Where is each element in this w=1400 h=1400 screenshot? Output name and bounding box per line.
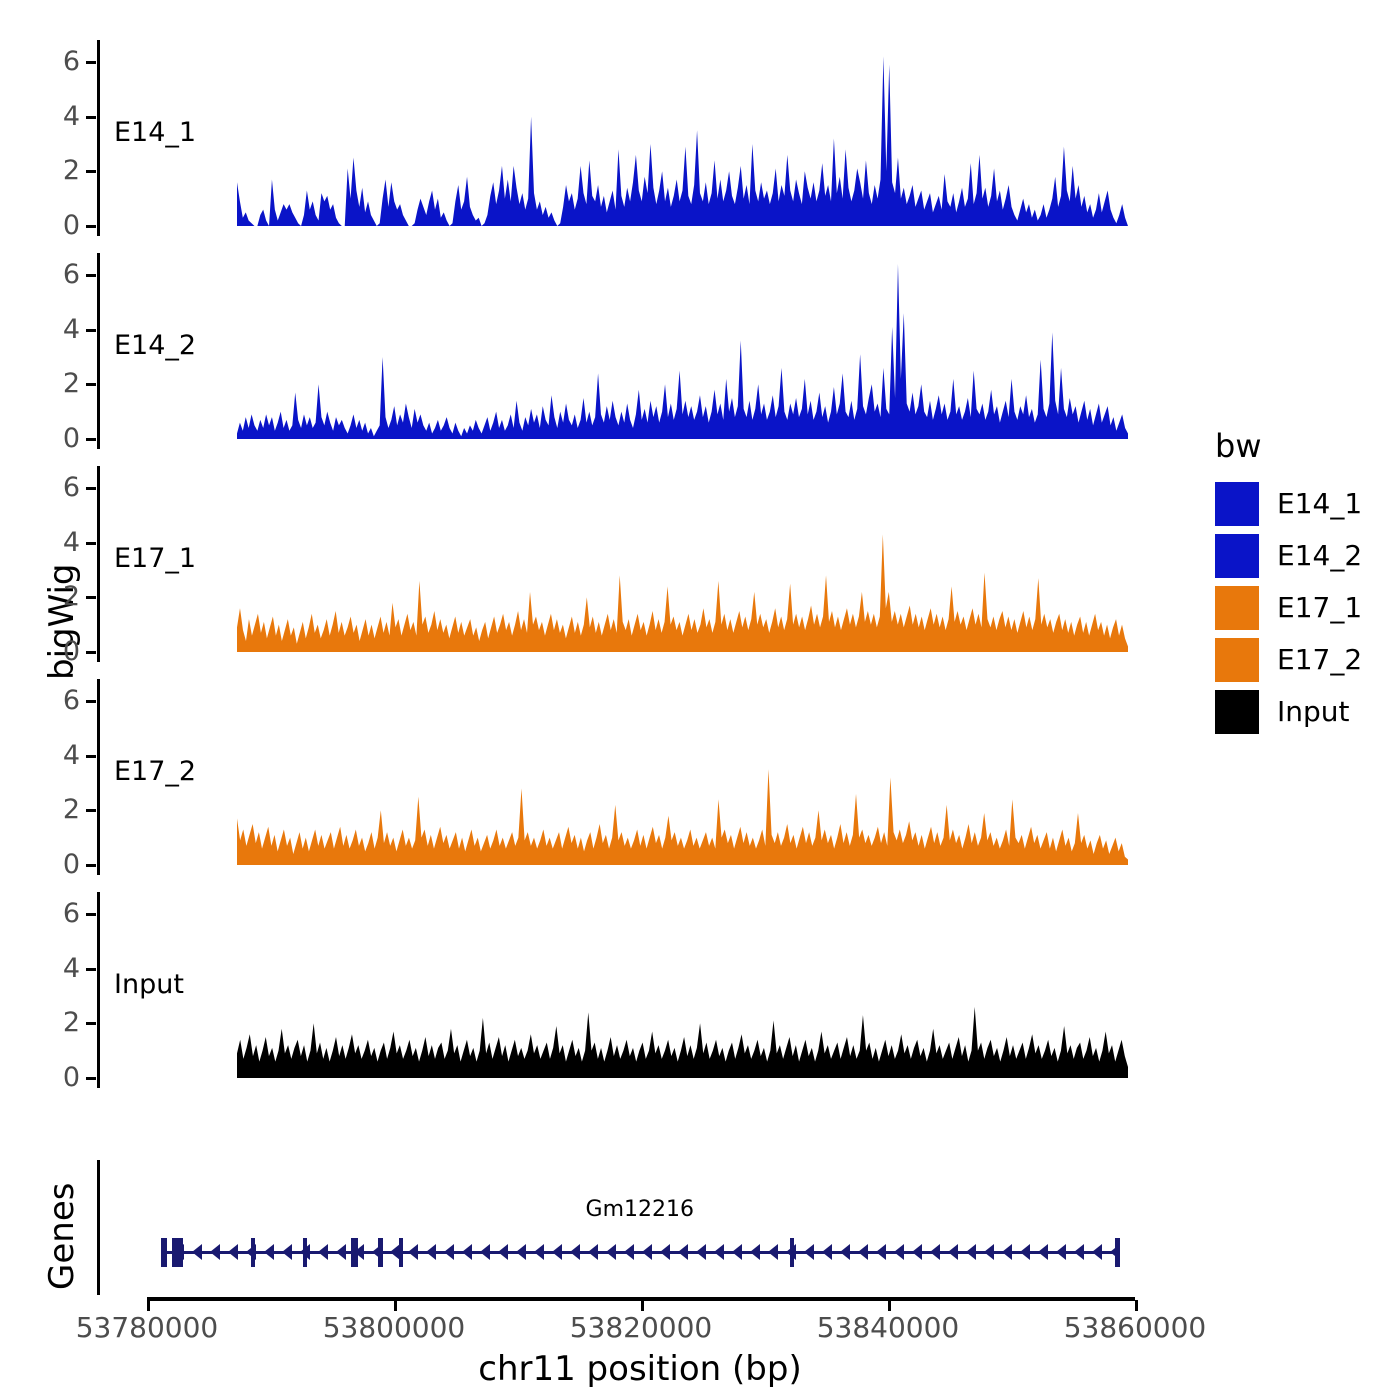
- legend-label: E17_1: [1277, 593, 1362, 623]
- gene-strand-arrow-icon: [462, 1244, 472, 1260]
- gene-strand-arrow-icon: [1002, 1244, 1012, 1260]
- gene-strand-arrow-icon: [426, 1244, 436, 1260]
- y-tick-label: 2: [22, 370, 80, 397]
- signal-track-e14_1: [237, 40, 1128, 228]
- y-tick-label: 6: [22, 48, 80, 75]
- gene-strand-arrow-icon: [228, 1244, 238, 1260]
- gene-strand-arrow-icon: [516, 1244, 526, 1260]
- y-tick: [86, 809, 96, 812]
- gene-strand-arrow-icon: [678, 1244, 688, 1260]
- track-panel-input: 0246Input: [0, 892, 1200, 1100]
- gene-strand-arrow-icon: [750, 1244, 760, 1260]
- gene-strand-arrow-icon: [1092, 1244, 1102, 1260]
- x-tick-label: 53820000: [531, 1314, 751, 1342]
- gene-strand-arrow-icon: [336, 1244, 346, 1260]
- legend-swatch: [1215, 534, 1259, 578]
- y-tick-label: 2: [22, 796, 80, 823]
- legend-label: E14_1: [1277, 489, 1362, 519]
- gene-exon: [790, 1238, 794, 1267]
- gene-strand-arrow-icon: [912, 1244, 922, 1260]
- gene-strand-arrow-icon: [264, 1244, 274, 1260]
- y-tick-label: 6: [22, 900, 80, 927]
- legend-swatch: [1215, 586, 1259, 630]
- y-tick-label: 0: [22, 212, 80, 239]
- gene-strand-arrow-icon: [858, 1244, 868, 1260]
- x-tick: [641, 1300, 644, 1311]
- gene-strand-arrow-icon: [822, 1244, 832, 1260]
- gene-exon: [251, 1238, 255, 1267]
- y-tick: [86, 116, 96, 119]
- y-tick-label: 0: [22, 851, 80, 878]
- y-tick-label: 6: [22, 261, 80, 288]
- gene-strand-arrow-icon: [732, 1244, 742, 1260]
- gene-strand-arrow-icon: [570, 1244, 580, 1260]
- gene-exon: [351, 1238, 358, 1267]
- x-tick-label: 53860000: [1025, 1314, 1245, 1342]
- y-tick-label: 4: [22, 316, 80, 343]
- gene-strand-arrow-icon: [282, 1244, 292, 1260]
- gene-strand-arrow-icon: [984, 1244, 994, 1260]
- y-tick: [86, 438, 96, 441]
- legend-item-e17_1[interactable]: E17_1: [1215, 586, 1400, 630]
- y-tick: [86, 61, 96, 64]
- gene-strand-arrow-icon: [948, 1244, 958, 1260]
- gene-strand-arrow-icon: [642, 1244, 652, 1260]
- y-tick: [86, 1022, 96, 1025]
- gene-exon: [1115, 1238, 1119, 1267]
- gene-strand-arrow-icon: [804, 1244, 814, 1260]
- gene-strand-arrow-icon: [444, 1244, 454, 1260]
- gene-exon: [163, 1238, 167, 1267]
- gene-strand-arrow-icon: [1056, 1244, 1066, 1260]
- legend-label: E14_2: [1277, 541, 1362, 571]
- signal-track-e17_2: [237, 679, 1128, 867]
- y-tick: [86, 542, 96, 545]
- x-tick-label: 53840000: [778, 1314, 998, 1342]
- legend-item-e14_2[interactable]: E14_2: [1215, 534, 1400, 578]
- y-tick: [86, 274, 96, 277]
- legend-item-e17_2[interactable]: E17_2: [1215, 638, 1400, 682]
- legend-label: Input: [1277, 697, 1350, 727]
- x-tick-label: 53780000: [37, 1314, 257, 1342]
- gene-strand-arrow-icon: [1020, 1244, 1030, 1260]
- legend-item-input[interactable]: Input: [1215, 690, 1400, 734]
- legend-swatch: [1215, 638, 1259, 682]
- signal-track-e17_1: [237, 466, 1128, 654]
- gene-exon: [172, 1238, 183, 1267]
- y-tick: [86, 487, 96, 490]
- legend-item-e14_1[interactable]: E14_1: [1215, 482, 1400, 526]
- y-tick: [86, 225, 96, 228]
- y-tick-label: 0: [22, 1064, 80, 1091]
- gene-strand-arrow-icon: [840, 1244, 850, 1260]
- y-tick: [86, 864, 96, 867]
- track-label-input: Input: [114, 971, 184, 998]
- y-axis-line: [97, 679, 100, 875]
- y-tick-label: 4: [22, 529, 80, 556]
- y-tick-label: 4: [22, 742, 80, 769]
- gene-strand-arrow-icon: [480, 1244, 490, 1260]
- gene-strand-arrow-icon: [714, 1244, 724, 1260]
- y-tick-label: 6: [22, 687, 80, 714]
- y-tick-label: 4: [22, 103, 80, 130]
- gene-strand-arrow-icon: [660, 1244, 670, 1260]
- gene-strand-arrow-icon: [408, 1244, 418, 1260]
- gene-strand-arrow-icon: [768, 1244, 778, 1260]
- gene-strand-arrow-icon: [894, 1244, 904, 1260]
- y-tick: [86, 383, 96, 386]
- y-tick-label: 0: [22, 425, 80, 452]
- track-label-e17_2: E17_2: [114, 758, 196, 785]
- y-tick: [86, 968, 96, 971]
- gene-strand-arrow-icon: [876, 1244, 886, 1260]
- track-panel-e14_2: 0246E14_2: [0, 253, 1200, 461]
- y-tick: [86, 170, 96, 173]
- gene-strand-arrow-icon: [624, 1244, 634, 1260]
- gene-strand-arrow-icon: [534, 1244, 544, 1260]
- gene-exon: [303, 1238, 307, 1267]
- gene-strand-arrow-icon: [966, 1244, 976, 1260]
- gene-strand-arrow-icon: [498, 1244, 508, 1260]
- y-tick: [86, 596, 96, 599]
- y-tick-label: 2: [22, 1009, 80, 1036]
- genes-panel: Gm12216: [0, 1155, 1200, 1300]
- track-label-e17_1: E17_1: [114, 545, 196, 572]
- genes-track[interactable]: Gm12216: [0, 1155, 1200, 1300]
- legend-swatch: [1215, 482, 1259, 526]
- gene-strand-arrow-icon: [930, 1244, 940, 1260]
- y-tick: [86, 329, 96, 332]
- track-label-e14_2: E14_2: [114, 332, 196, 359]
- gene-strand-arrow-icon: [192, 1244, 202, 1260]
- signal-track-e14_2: [237, 253, 1128, 441]
- gene-strand-arrow-icon: [696, 1244, 706, 1260]
- y-tick-label: 2: [22, 157, 80, 184]
- track-panel-e14_1: 0246E14_1: [0, 40, 1200, 248]
- track-panel-e17_2: 0246E17_2: [0, 679, 1200, 887]
- track-label-e14_1: E14_1: [114, 119, 196, 146]
- y-axis-line: [97, 40, 100, 236]
- legend-swatch: [1215, 690, 1259, 734]
- gene-strand-arrow-icon: [606, 1244, 616, 1260]
- y-tick-label: 4: [22, 955, 80, 982]
- y-axis-line: [97, 892, 100, 1088]
- gene-label: Gm12216: [490, 1199, 790, 1221]
- signal-track-input: [237, 892, 1128, 1080]
- y-tick: [86, 755, 96, 758]
- gene-exon: [378, 1238, 383, 1267]
- gene-strand-arrow-icon: [552, 1244, 562, 1260]
- y-tick: [86, 700, 96, 703]
- x-tick: [1135, 1300, 1138, 1311]
- gene-strand-arrow-icon: [588, 1244, 598, 1260]
- x-tick: [147, 1300, 150, 1311]
- y-tick: [86, 651, 96, 654]
- y-tick-label: 0: [22, 638, 80, 665]
- legend: bw E14_1E14_2E17_1E17_2Input: [1215, 430, 1400, 730]
- y-tick: [86, 1077, 96, 1080]
- gene-strand-arrow-icon: [1074, 1244, 1084, 1260]
- x-tick-label: 53800000: [284, 1314, 504, 1342]
- legend-title: bw: [1215, 430, 1261, 462]
- y-axis-line: [97, 253, 100, 449]
- x-axis-title: chr11 position (bp): [340, 1352, 940, 1386]
- legend-label: E17_2: [1277, 645, 1362, 675]
- y-tick-label: 6: [22, 474, 80, 501]
- y-tick: [86, 913, 96, 916]
- gene-strand-arrow-icon: [210, 1244, 220, 1260]
- y-tick-label: 2: [22, 583, 80, 610]
- y-axis-line: [97, 466, 100, 662]
- track-panel-e17_1: 0246E17_1: [0, 466, 1200, 674]
- x-tick: [888, 1300, 891, 1311]
- gene-strand-arrow-icon: [318, 1244, 328, 1260]
- x-tick: [394, 1300, 397, 1311]
- gene-exon: [399, 1238, 403, 1267]
- gene-strand-arrow-icon: [1038, 1244, 1048, 1260]
